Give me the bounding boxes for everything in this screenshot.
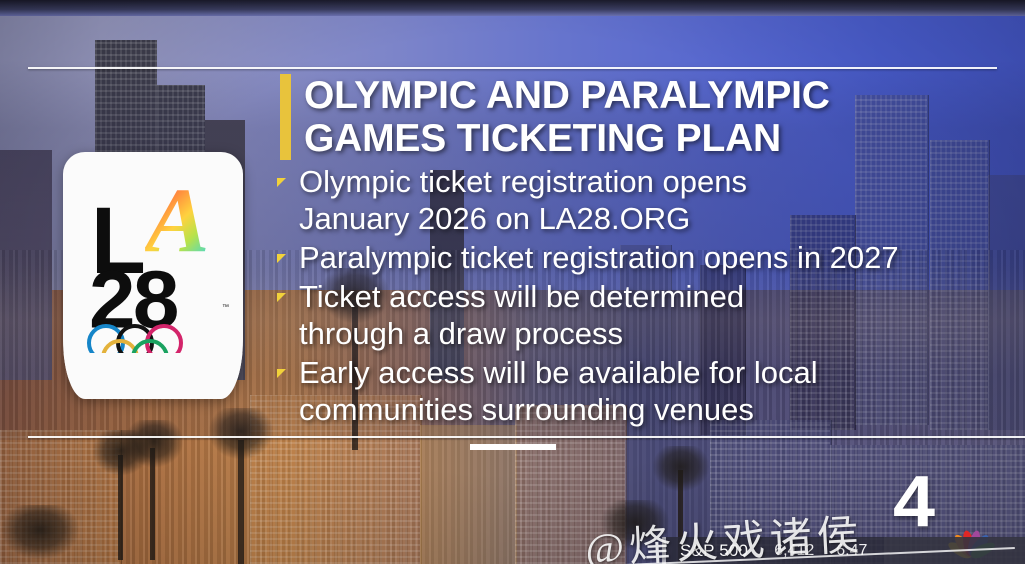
headline-block: OLYMPIC AND PARALYMPIC GAMES TICKETING P… <box>280 74 830 160</box>
list-item: Ticket access will be determined through… <box>277 278 977 352</box>
bullet-text: Ticket access will be determined through… <box>299 278 744 352</box>
la28-letter-a: A <box>145 172 225 268</box>
palm-tree <box>0 505 80 560</box>
triangle-bullet-icon <box>277 254 286 263</box>
bullet-text: Paralympic ticket registration opens in … <box>299 239 899 276</box>
triangle-bullet-icon <box>277 369 286 378</box>
bottom-accent-bar <box>470 444 556 450</box>
triangle-bullet-icon <box>277 293 286 302</box>
top-divider-rule <box>28 67 997 69</box>
list-item: Paralympic ticket registration opens in … <box>277 239 977 276</box>
palm-tree <box>652 446 710 492</box>
bullet-text: Early access will be available for local… <box>299 354 818 428</box>
headline-accent-bar <box>280 74 291 160</box>
bottom-divider-rule <box>28 436 1025 438</box>
list-item: Olympic ticket registration opens Januar… <box>277 163 977 237</box>
olympic-rings-icon <box>87 324 221 372</box>
triangle-bullet-icon <box>277 178 286 187</box>
ring-yellow <box>101 339 139 377</box>
bullet-list: Olympic ticket registration opens Januar… <box>277 163 977 430</box>
sky-top-band <box>0 0 1025 16</box>
trademark-symbol: ™ <box>222 304 229 311</box>
channel-number: 4 <box>893 466 935 538</box>
list-item: Early access will be available for local… <box>277 354 977 428</box>
bullet-text: Olympic ticket registration opens Januar… <box>299 163 747 237</box>
page-title: OLYMPIC AND PARALYMPIC GAMES TICKETING P… <box>304 74 830 160</box>
ring-green <box>131 339 169 377</box>
la28-logo: A L 28 ™ <box>63 152 243 399</box>
broadcast-graphic: OLYMPIC AND PARALYMPIC GAMES TICKETING P… <box>0 0 1025 564</box>
